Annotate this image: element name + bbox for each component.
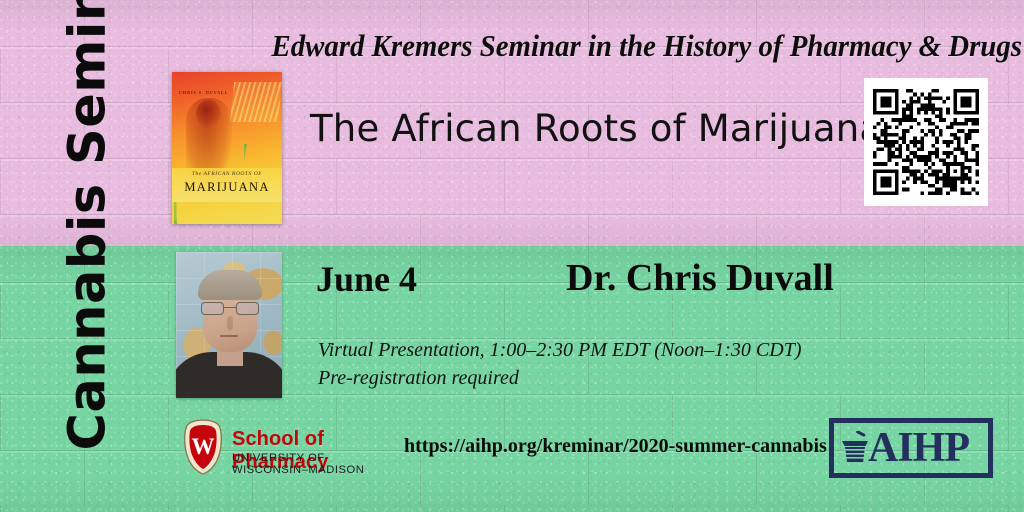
book-cover-thatch-hut: [230, 82, 282, 122]
speaker-name: Dr. Chris Duvall: [566, 256, 834, 300]
vertical-series-title: Cannabis Seminar: [63, 0, 114, 451]
event-details-line-2: Pre-registration required: [318, 364, 878, 392]
qr-code[interactable]: [864, 78, 988, 206]
seminar-poster: Cannabis Seminar Edward Kremers Seminar …: [0, 0, 1024, 512]
uw-school-of-pharmacy-logo: W School of Pharmacy UNIVERSITY OF WISCO…: [180, 418, 400, 476]
event-date: June 4: [316, 258, 417, 300]
portrait-lens-right: [236, 302, 259, 315]
portrait-glasses-bridge: [224, 307, 236, 308]
seminar-series-header: Edward Kremers Seminar in the History of…: [160, 26, 1022, 66]
book-cover-subtitle: The AFRICAN ROOTS OF: [172, 171, 282, 177]
aihp-logo: AIHP: [829, 418, 993, 478]
registration-url[interactable]: https://aihp.org/kreminar/2020-summer-ca…: [404, 435, 827, 458]
uw-crest-icon: W: [180, 418, 226, 476]
event-details-line-1: Virtual Presentation, 1:00–2:30 PM EDT (…: [318, 336, 878, 364]
portrait-hair: [198, 270, 262, 300]
speaker-portrait: [176, 252, 282, 398]
uw-university-name: UNIVERSITY OF WISCONSIN–MADISON: [232, 452, 400, 476]
portrait-nose: [227, 316, 233, 330]
seminar-series-title: Edward Kremers Seminar in the History of…: [272, 28, 1022, 64]
talk-title: The African Roots of Marijuana: [310, 101, 850, 155]
aihp-wordmark: AIHP: [868, 427, 969, 469]
book-cover-figure-head: [196, 100, 221, 127]
qr-code-icon: [873, 87, 979, 197]
portrait-glasses: [201, 302, 259, 315]
event-details: Virtual Presentation, 1:00–2:30 PM EDT (…: [318, 336, 878, 392]
svg-text:W: W: [192, 434, 215, 459]
book-cover-author: CHRIS S. DUVALL: [179, 90, 228, 95]
book-cover-image: CHRIS S. DUVALL The AFRICAN ROOTS OF MAR…: [172, 72, 282, 224]
portrait-lens-left: [201, 302, 224, 315]
book-cover-title: MARIJUANA: [172, 180, 282, 195]
mortar-and-pestle-icon: [840, 431, 870, 465]
